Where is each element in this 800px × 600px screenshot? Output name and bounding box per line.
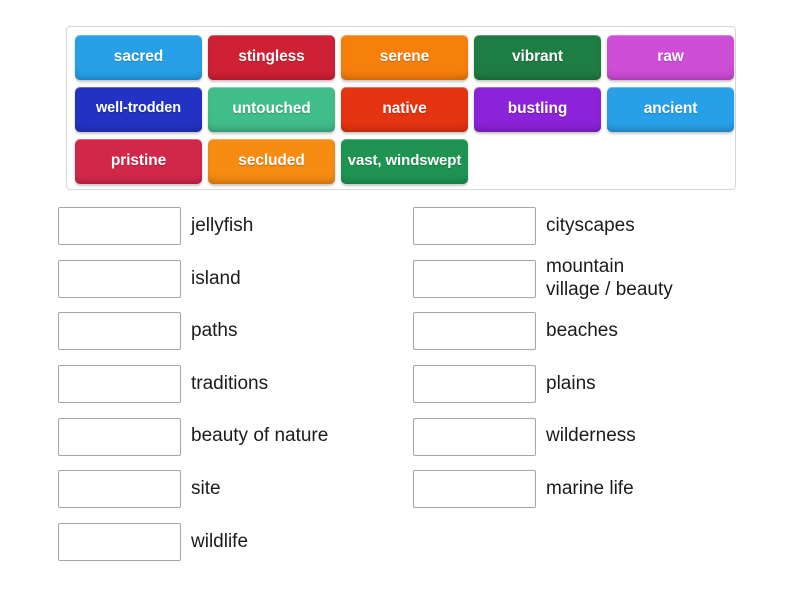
drop-slot-wilderness[interactable] [413, 418, 536, 456]
answer-label: wildlife [191, 531, 248, 553]
answer-label: site [191, 478, 221, 500]
answer-label: cityscapes [546, 215, 635, 237]
answer-label: beaches [546, 320, 618, 342]
tile-row: pristinesecludedvast, windswept [69, 135, 735, 187]
answer-row: site [58, 463, 413, 516]
drop-slot-island[interactable] [58, 260, 181, 298]
answer-row: paths [58, 305, 413, 358]
answer-row: wilderness [413, 410, 768, 463]
answer-label: beauty of nature [191, 425, 328, 447]
word-tile-raw[interactable]: raw [607, 35, 734, 80]
answer-row: mountain village / beauty [413, 253, 768, 306]
drop-slot-beaches[interactable] [413, 312, 536, 350]
answer-row: jellyfish [58, 200, 413, 253]
answer-row: beauty of nature [58, 410, 413, 463]
answer-area: jellyfishislandpathstraditionsbeauty of … [0, 200, 800, 568]
tile-placeholder [474, 139, 601, 184]
tile-row: sacredstinglessserenevibrantraw [69, 31, 735, 83]
word-tile-stingless[interactable]: stingless [208, 35, 335, 80]
drop-slot-jellyfish[interactable] [58, 207, 181, 245]
answer-label: paths [191, 320, 237, 342]
word-tile-ancient[interactable]: ancient [607, 87, 734, 132]
answer-column-left: jellyfishislandpathstraditionsbeauty of … [58, 200, 413, 568]
word-tile-serene[interactable]: serene [341, 35, 468, 80]
drop-slot-plains[interactable] [413, 365, 536, 403]
drop-slot-mountain-village-beauty[interactable] [413, 260, 536, 298]
answer-row: cityscapes [413, 200, 768, 253]
word-tile-untouched[interactable]: untouched [208, 87, 335, 132]
answer-label: island [191, 268, 241, 290]
drop-slot-traditions[interactable] [58, 365, 181, 403]
drop-slot-cityscapes[interactable] [413, 207, 536, 245]
answer-label: traditions [191, 373, 268, 395]
answer-row: marine life [413, 463, 768, 516]
answer-row: traditions [58, 358, 413, 411]
drop-slot-site[interactable] [58, 470, 181, 508]
answer-row: wildlife [58, 516, 413, 569]
answer-column-right: cityscapesmountain village / beautybeach… [413, 200, 768, 568]
answer-row: plains [413, 358, 768, 411]
word-tile-well-trodden[interactable]: well-trodden [75, 87, 202, 132]
answer-label: plains [546, 373, 596, 395]
answer-label: mountain village / beauty [546, 256, 673, 301]
tile-rows: sacredstinglessserenevibrantrawwell-trod… [67, 31, 735, 187]
word-tile-pristine[interactable]: pristine [75, 139, 202, 184]
answer-label: wilderness [546, 425, 636, 447]
match-up-activity: sacredstinglessserenevibrantrawwell-trod… [0, 0, 800, 600]
word-tile-secluded[interactable]: secluded [208, 139, 335, 184]
answer-label: marine life [546, 478, 634, 500]
drop-slot-beauty-of-nature[interactable] [58, 418, 181, 456]
tile-row: well-troddenuntouchednativebustlingancie… [69, 83, 735, 135]
answer-label: jellyfish [191, 215, 253, 237]
word-tile-vast-windswept[interactable]: vast, windswept [341, 139, 468, 184]
drop-slot-paths[interactable] [58, 312, 181, 350]
word-tile-vibrant[interactable]: vibrant [474, 35, 601, 80]
drop-slot-marine-life[interactable] [413, 470, 536, 508]
drop-slot-wildlife[interactable] [58, 523, 181, 561]
answer-row: beaches [413, 305, 768, 358]
tile-placeholder [607, 139, 734, 184]
word-tile-native[interactable]: native [341, 87, 468, 132]
answer-row: island [58, 253, 413, 306]
word-tile-bustling[interactable]: bustling [474, 87, 601, 132]
word-tile-sacred[interactable]: sacred [75, 35, 202, 80]
word-tile-bank: sacredstinglessserenevibrantrawwell-trod… [66, 26, 736, 190]
